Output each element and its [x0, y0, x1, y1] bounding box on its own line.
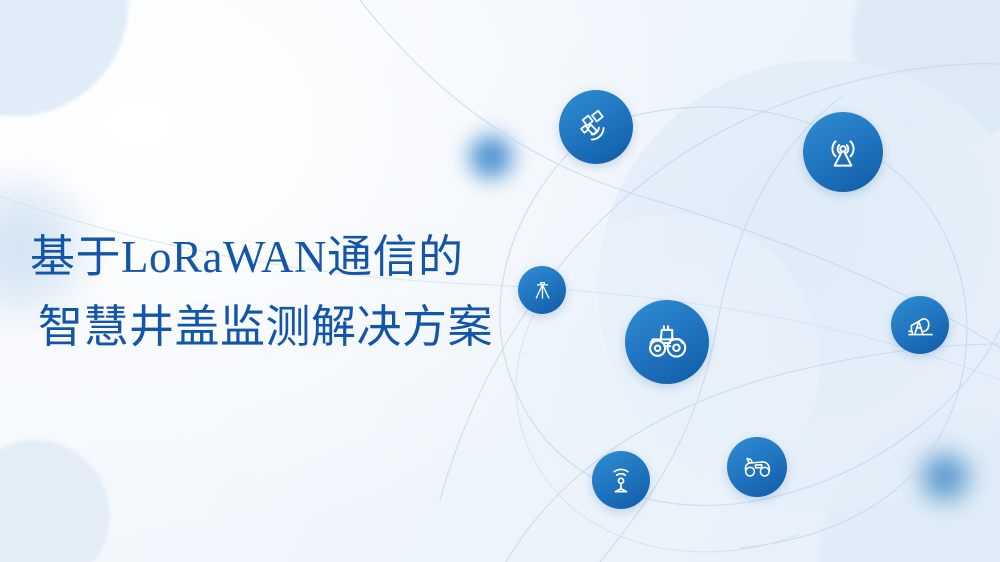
satellite-signal-icon: [577, 108, 615, 146]
page-title: 基于LoRaWAN通信的 智慧井盖监测解决方案: [30, 222, 590, 362]
decor-accent-dot-bottom-right: [912, 444, 978, 510]
wireless-sensor-icon: [605, 464, 637, 496]
title-line-secondary: 智慧井盖监测解决方案: [30, 292, 590, 362]
decor-blob-top-left: [0, 0, 128, 116]
decor-blob-bottom-left: [0, 440, 110, 562]
decor-blob-top-right: [852, 0, 1000, 140]
node-tripod[interactable]: [518, 266, 566, 314]
title-line-primary: 基于LoRaWAN通信的: [30, 222, 590, 292]
node-tractor[interactable]: [625, 300, 709, 384]
node-sensor[interactable]: [592, 451, 650, 509]
survey-tripod-icon: [530, 278, 555, 303]
node-rover[interactable]: [727, 437, 787, 497]
oil-pumpjack-icon: [904, 309, 937, 342]
tractor-icon: [644, 319, 690, 365]
decor-blob-bottom-right: [820, 412, 1000, 562]
node-oilpump[interactable]: [891, 296, 949, 354]
node-satellite[interactable]: [559, 90, 633, 164]
robot-rover-icon: [740, 450, 774, 484]
radio-tower-icon: [822, 131, 864, 173]
title-slide: 基于LoRaWAN通信的 智慧井盖监测解决方案: [0, 0, 1000, 562]
decor-orbit-disc-large: [598, 60, 1000, 512]
decor-accent-dot-center: [462, 128, 520, 186]
node-antenna[interactable]: [803, 112, 883, 192]
